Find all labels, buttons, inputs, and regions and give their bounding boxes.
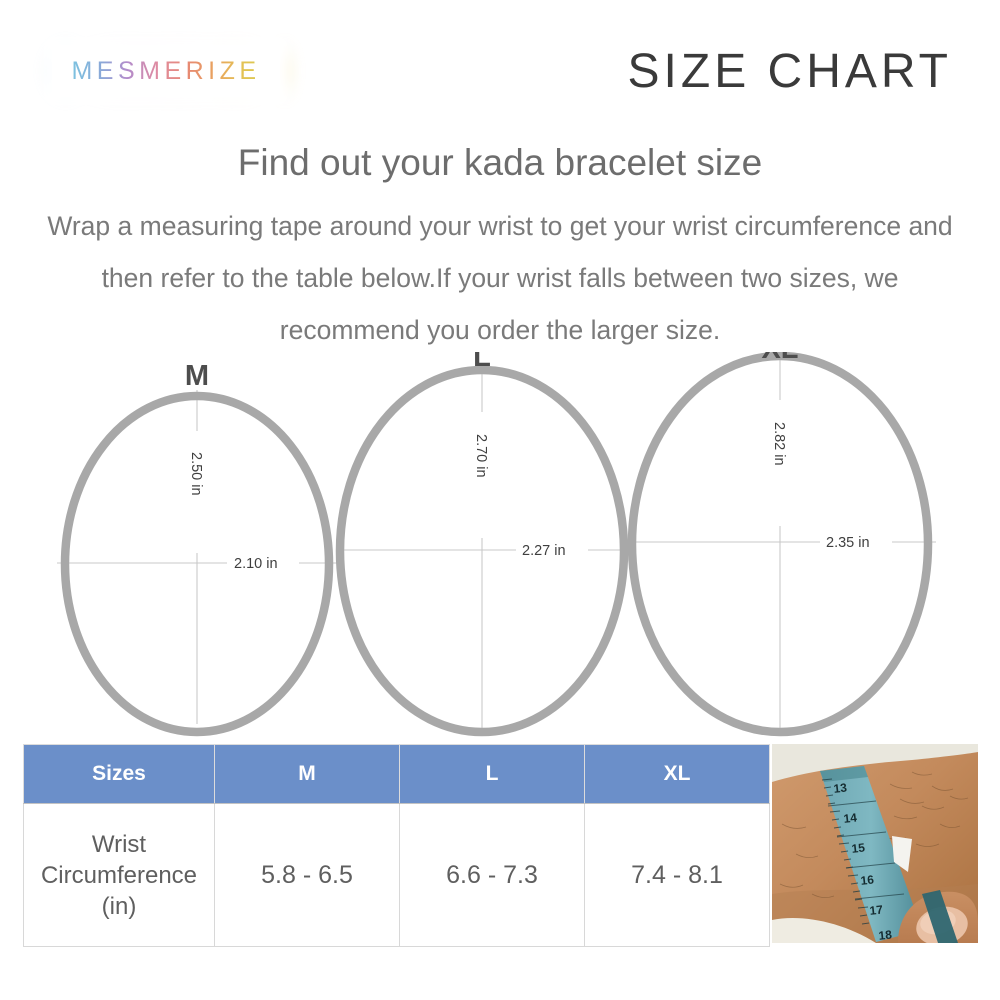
size-chart-table: Sizes M L XL Wrist Circumference (in) 5.…: [23, 744, 770, 947]
oval-diagram-xl: XL 2.82 in 2.35 in: [630, 352, 936, 734]
table-cell-m: 5.8 - 6.5: [215, 804, 400, 947]
table-row-label-line1: Wrist: [25, 829, 213, 860]
oval-xl-size-label: XL: [761, 352, 798, 365]
tape-mark-18: 18: [878, 927, 893, 942]
tape-mark-13: 13: [833, 780, 848, 795]
oval-l-size-label: L: [473, 352, 491, 373]
table-header-xl: XL: [585, 745, 770, 804]
tape-mark-17: 17: [869, 902, 884, 917]
table-row: Wrist Circumference (in) 5.8 - 6.5 6.6 -…: [24, 804, 770, 947]
oval-diagrams: M 2.50 in 2.10 in L 2.70 in 2.27 in XL 2…: [0, 352, 1000, 744]
oval-diagram-m: M 2.50 in 2.10 in: [57, 360, 337, 732]
intro-body: Wrap a measuring tape around your wrist …: [0, 200, 1000, 356]
table-row-label-line3: (in): [25, 891, 213, 922]
table-header-sizes: Sizes: [24, 745, 215, 804]
table-header-m: M: [215, 745, 400, 804]
intro-heading: Find out your kada bracelet size: [0, 140, 1000, 186]
table-header-row: Sizes M L XL: [24, 745, 770, 804]
table-row-label-line2: Circumference: [25, 860, 213, 891]
intro-section: Find out your kada bracelet size Wrap a …: [0, 140, 1000, 356]
oval-xl-width-label: 2.35 in: [826, 535, 870, 551]
oval-m-width-label: 2.10 in: [234, 556, 278, 572]
brand-logo: MESMERIZE: [52, 45, 280, 97]
wrist-measurement-photo: 13 14 15 16 17 18: [772, 744, 978, 943]
oval-m-height-label: 2.50 in: [188, 452, 204, 496]
table-header-l: L: [400, 745, 585, 804]
table-row-label: Wrist Circumference (in): [24, 804, 215, 947]
tape-mark-15: 15: [851, 840, 866, 855]
page-title: SIZE CHART: [628, 44, 952, 99]
table-cell-xl: 7.4 - 8.1: [585, 804, 770, 947]
oval-diagram-l: L 2.70 in 2.27 in: [336, 352, 634, 732]
oval-m-size-label: M: [185, 360, 209, 392]
oval-l-height-label: 2.70 in: [473, 434, 489, 478]
oval-xl-height-label: 2.82 in: [771, 422, 787, 466]
table-cell-l: 6.6 - 7.3: [400, 804, 585, 947]
brand-name: MESMERIZE: [71, 57, 260, 86]
tape-mark-14: 14: [843, 810, 858, 825]
oval-l-width-label: 2.27 in: [522, 543, 566, 559]
tape-mark-16: 16: [860, 872, 875, 887]
